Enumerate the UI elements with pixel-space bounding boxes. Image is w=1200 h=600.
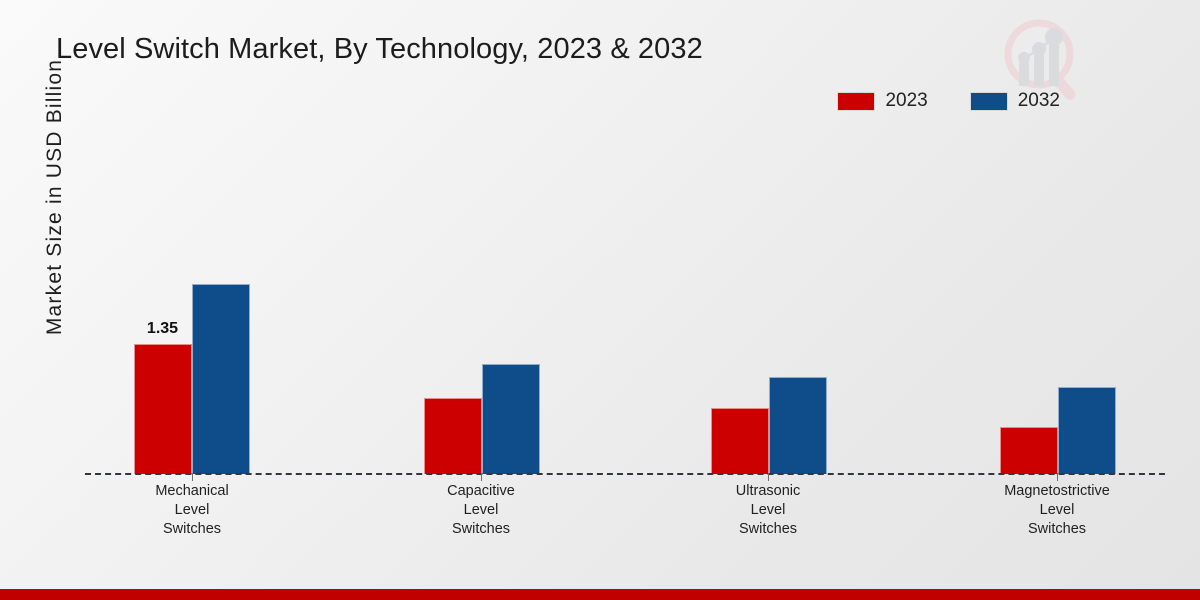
bar-2023-mechanical[interactable]: 1.35	[134, 344, 192, 474]
x-axis-label-line: Level	[381, 501, 581, 520]
bar-2032-mechanical[interactable]	[192, 284, 250, 474]
x-axis-label-magnetostrictive: Magnetostrictive Level Switches	[957, 482, 1157, 539]
bottom-accent-strip	[0, 589, 1200, 600]
bar-2032-ultrasonic[interactable]	[769, 377, 827, 474]
x-axis-label-line: Switches	[381, 520, 581, 539]
x-axis-baseline	[85, 473, 1165, 475]
bar-group-mechanical: 1.35	[133, 140, 250, 474]
bar-2023-capacitive[interactable]	[424, 398, 482, 474]
x-axis-tick-capacitive	[481, 473, 482, 481]
chart-page: Level Switch Market, By Technology, 2023…	[0, 0, 1200, 600]
x-axis-label-line: Switches	[668, 520, 868, 539]
chart-legend: 2023 2032	[837, 90, 1060, 112]
legend-swatch-2032	[970, 92, 1008, 111]
legend-swatch-2023	[837, 92, 875, 111]
x-axis-label-capacitive: Capacitive Level Switches	[381, 482, 581, 539]
plot-area: 1.35	[85, 140, 1165, 474]
legend-label-2032: 2032	[1018, 90, 1060, 112]
x-axis-label-line: Mechanical	[92, 482, 292, 501]
legend-item-2023[interactable]: 2023	[837, 90, 927, 112]
chart-title: Level Switch Market, By Technology, 2023…	[56, 33, 703, 66]
x-axis-tick-ultrasonic	[768, 473, 769, 481]
legend-item-2032[interactable]: 2032	[970, 90, 1060, 112]
bar-group-ultrasonic	[710, 140, 827, 474]
bar-2032-magnetostrictive[interactable]	[1058, 387, 1116, 474]
bar-2032-capacitive[interactable]	[482, 364, 540, 474]
x-axis-label-line: Level	[92, 501, 292, 520]
bar-group-magnetostrictive	[999, 140, 1116, 474]
x-axis-label-mechanical: Mechanical Level Switches	[92, 482, 292, 539]
bar-2023-magnetostrictive[interactable]	[1000, 427, 1058, 474]
y-axis-title: Market Size in USD Billion	[43, 32, 67, 362]
bar-2023-ultrasonic[interactable]	[711, 408, 769, 474]
legend-label-2023: 2023	[885, 90, 927, 112]
x-axis-label-line: Magnetostrictive	[957, 482, 1157, 501]
x-axis-label-line: Ultrasonic	[668, 482, 868, 501]
bar-group-capacitive	[423, 140, 540, 474]
x-axis-tick-magnetostrictive	[1057, 473, 1058, 481]
x-axis-label-line: Switches	[957, 520, 1157, 539]
x-axis-label-ultrasonic: Ultrasonic Level Switches	[668, 482, 868, 539]
bar-value-label-mechanical-2023: 1.35	[147, 320, 178, 338]
x-axis-tick-mechanical	[192, 473, 193, 481]
x-axis-label-line: Level	[957, 501, 1157, 520]
x-axis-label-line: Level	[668, 501, 868, 520]
x-axis-label-line: Capacitive	[381, 482, 581, 501]
x-axis-label-line: Switches	[92, 520, 292, 539]
